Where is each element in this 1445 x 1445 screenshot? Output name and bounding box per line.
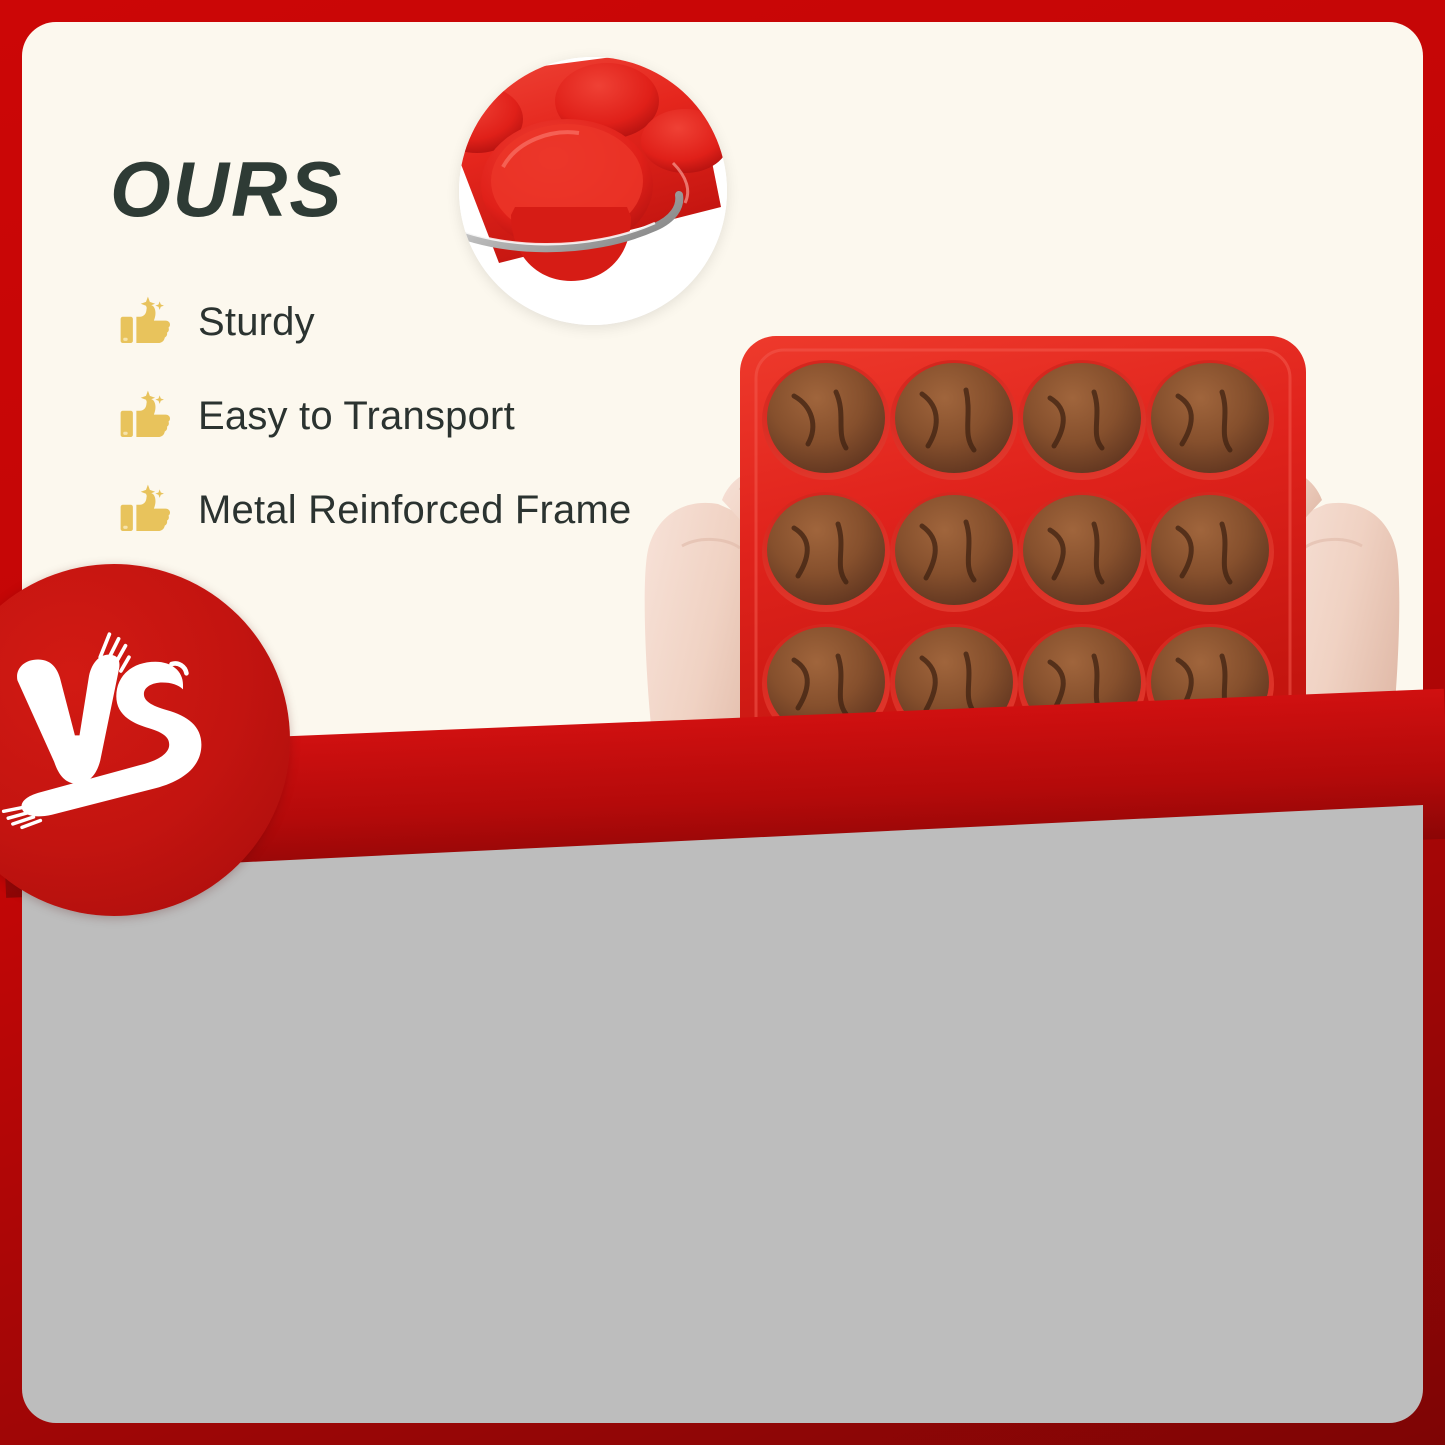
- others-panel: OTHERS Collapse & Bend Easy to Deform: [22, 805, 1423, 1423]
- list-item-label: Metal Reinforced Frame: [198, 488, 631, 533]
- comparison-poster: OURS Sturdy: [0, 0, 1445, 1445]
- metal-frame-closeup-inset: [459, 57, 727, 325]
- vs-brush-lettering: VS: [0, 625, 229, 855]
- thumbs-up-icon: [118, 294, 174, 350]
- list-item: Easy to Transport: [118, 388, 631, 444]
- list-item-label: Easy to Transport: [198, 394, 515, 439]
- thumbs-up-icon: [118, 388, 174, 444]
- list-item-label: Sturdy: [198, 300, 315, 345]
- thumbs-up-icon: [118, 482, 174, 538]
- list-item: Metal Reinforced Frame: [118, 482, 631, 538]
- ours-benefits-list: Sturdy Easy to Transport: [118, 294, 631, 538]
- ours-heading: OURS: [110, 150, 343, 228]
